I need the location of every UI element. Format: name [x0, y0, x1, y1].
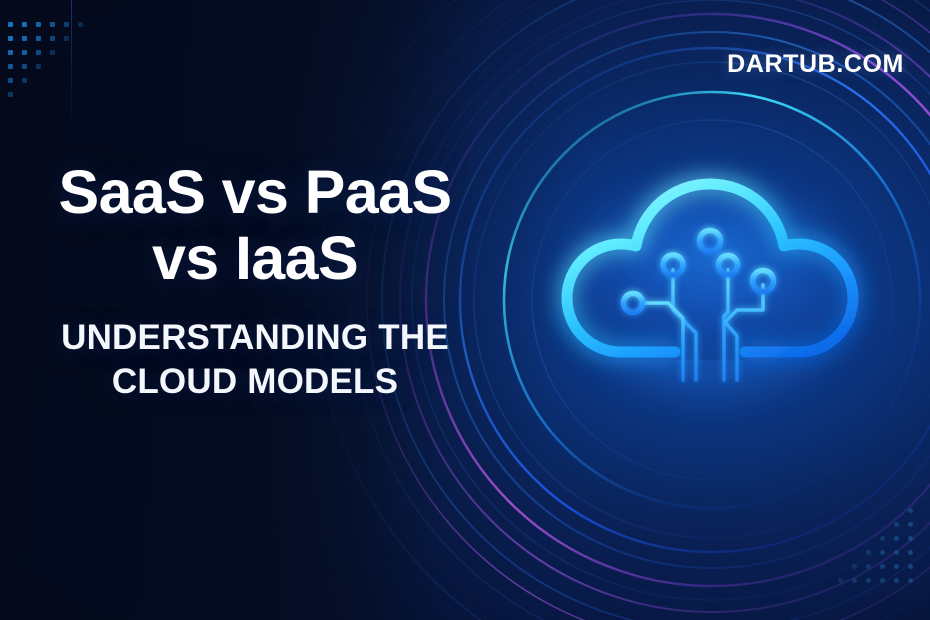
promo-banner: DARTUB.COM SaaS vs PaaS vs IaaS UNDERSTA…	[0, 0, 930, 620]
headline-line-1: SaaS vs PaaS	[59, 158, 452, 226]
cloud-circuit-icon	[520, 150, 900, 450]
site-watermark: DARTUB.COM	[727, 50, 904, 79]
page-title: SaaS vs PaaS vs IaaS	[0, 160, 510, 292]
text-block: SaaS vs PaaS vs IaaS UNDERSTANDING THE C…	[0, 160, 510, 404]
subhead-line-2: CLOUD MODELS	[0, 360, 510, 404]
subhead-line-1: UNDERSTANDING THE	[61, 318, 449, 357]
headline-line-2: vs IaaS	[0, 226, 510, 292]
page-subtitle: UNDERSTANDING THE CLOUD MODELS	[0, 316, 510, 404]
